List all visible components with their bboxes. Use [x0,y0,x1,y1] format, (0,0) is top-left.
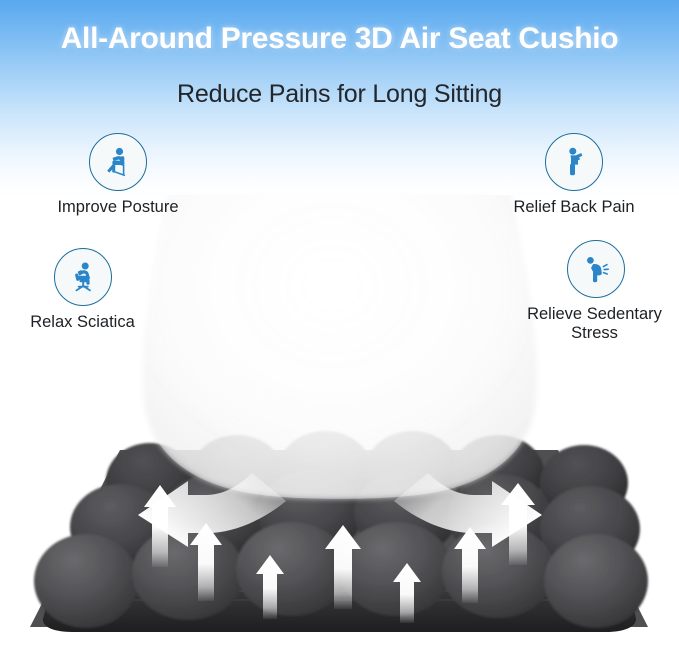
standing-person-holding-back-icon [557,145,591,179]
feature-improve-posture: Improve Posture [56,133,180,217]
page-subtitle: Reduce Pains for Long Sitting [0,80,679,109]
badge-circle [567,240,625,298]
feature-relieve-sedentary-stress: Relieve Sedentary Stress [512,240,679,343]
badge-circle [54,248,112,306]
badge-circle [545,133,603,191]
feature-label: Improve Posture [56,198,180,217]
feature-label: Relax Sciatica [0,313,165,332]
feature-label: Relief Back Pain [498,198,650,217]
infographic-canvas: All-Around Pressure 3D Air Seat Cushio R… [0,0,679,655]
feature-label: Relieve Sedentary Stress [512,305,677,343]
bent-person-pain-radiating-icon [579,252,613,286]
body-silhouette-overlay [120,195,560,515]
office-chair-back-pain-icon [66,260,100,294]
feature-relax-sciatica: Relax Sciatica [0,248,165,332]
badge-circle [89,133,147,191]
seated-person-good-posture-icon [101,145,135,179]
feature-relief-back-pain: Relief Back Pain [498,133,650,217]
page-title: All-Around Pressure 3D Air Seat Cushio [0,22,679,56]
